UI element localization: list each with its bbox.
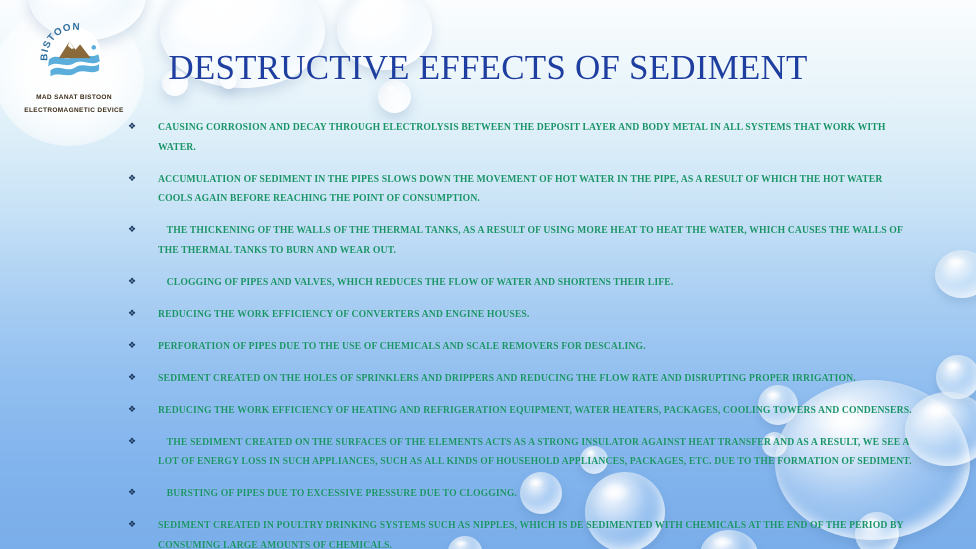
bullet-item: ❖THE THICKENING OF THE WALLS OF THE THER… [128,221,948,260]
bullet-text: SEDIMENT CREATED ON THE HOLES OF SPRINKL… [158,369,916,389]
diamond-bullet-icon: ❖ [128,484,158,500]
bullet-item: ❖CLOGGING OF PIPES AND VALVES, WHICH RED… [128,273,948,293]
bullet-text: ACCUMULATION OF SEDIMENT IN THE PIPES SL… [158,170,916,209]
bullet-item: ❖THE SEDIMENT CREATED ON THE SURFACES OF… [128,433,948,472]
bullet-text: THE SEDIMENT CREATED ON THE SURFACES OF … [158,433,916,472]
bullet-text: CAUSING CORROSION AND DECAY THROUGH ELEC… [158,118,916,157]
slide-title: DESTRUCTIVE EFFECTS OF SEDIMENT [0,48,976,88]
bullet-text: REDUCING THE WORK EFFICIENCY OF HEATING … [158,401,916,421]
diamond-bullet-icon: ❖ [128,433,158,449]
diamond-bullet-icon: ❖ [128,170,158,186]
bullet-text: BURSTING OF PIPES DUE TO EXCESSIVE PRESS… [158,484,916,504]
company-logo: BISTOON MAD SANAT BISTOON ELECTROMAGNETI… [12,14,136,117]
bistoon-logo-icon: BISTOON [36,14,112,90]
bullet-item: ❖ACCUMULATION OF SEDIMENT IN THE PIPES S… [128,170,948,209]
diamond-bullet-icon: ❖ [128,305,158,321]
bullet-list: ❖CAUSING CORROSION AND DECAY THROUGH ELE… [128,118,948,549]
diamond-bullet-icon: ❖ [128,516,158,532]
bullet-item: ❖PERFORATION OF PIPES DUE TO THE USE OF … [128,337,948,357]
logo-caption-line-2: ELECTROMAGNETIC DEVICE [12,105,136,116]
diamond-bullet-icon: ❖ [128,221,158,237]
diamond-bullet-icon: ❖ [128,369,158,385]
logo-caption-line-1: MAD SANAT BISTOON [12,92,136,103]
bullet-text: CLOGGING OF PIPES AND VALVES, WHICH REDU… [158,273,916,293]
bullet-text: THE THICKENING OF THE WALLS OF THE THERM… [158,221,916,260]
bullet-text: SEDIMENT CREATED IN POULTRY DRINKING SYS… [158,516,916,549]
bullet-item: ❖REDUCING THE WORK EFFICIENCY OF CONVERT… [128,305,948,325]
diamond-bullet-icon: ❖ [128,401,158,417]
bullet-item: ❖SEDIMENT CREATED IN POULTRY DRINKING SY… [128,516,948,549]
slide-canvas: BISTOON MAD SANAT BISTOON ELECTROMAGNETI… [0,0,976,549]
bullet-item: ❖SEDIMENT CREATED ON THE HOLES OF SPRINK… [128,369,948,389]
diamond-bullet-icon: ❖ [128,118,158,134]
diamond-bullet-icon: ❖ [128,273,158,289]
bullet-text: PERFORATION OF PIPES DUE TO THE USE OF C… [158,337,916,357]
bullet-item: ❖BURSTING OF PIPES DUE TO EXCESSIVE PRES… [128,484,948,504]
diamond-bullet-icon: ❖ [128,337,158,353]
bullet-item: ❖REDUCING THE WORK EFFICIENCY OF HEATING… [128,401,948,421]
bullet-item: ❖CAUSING CORROSION AND DECAY THROUGH ELE… [128,118,948,157]
bullet-text: REDUCING THE WORK EFFICIENCY OF CONVERTE… [158,305,916,325]
